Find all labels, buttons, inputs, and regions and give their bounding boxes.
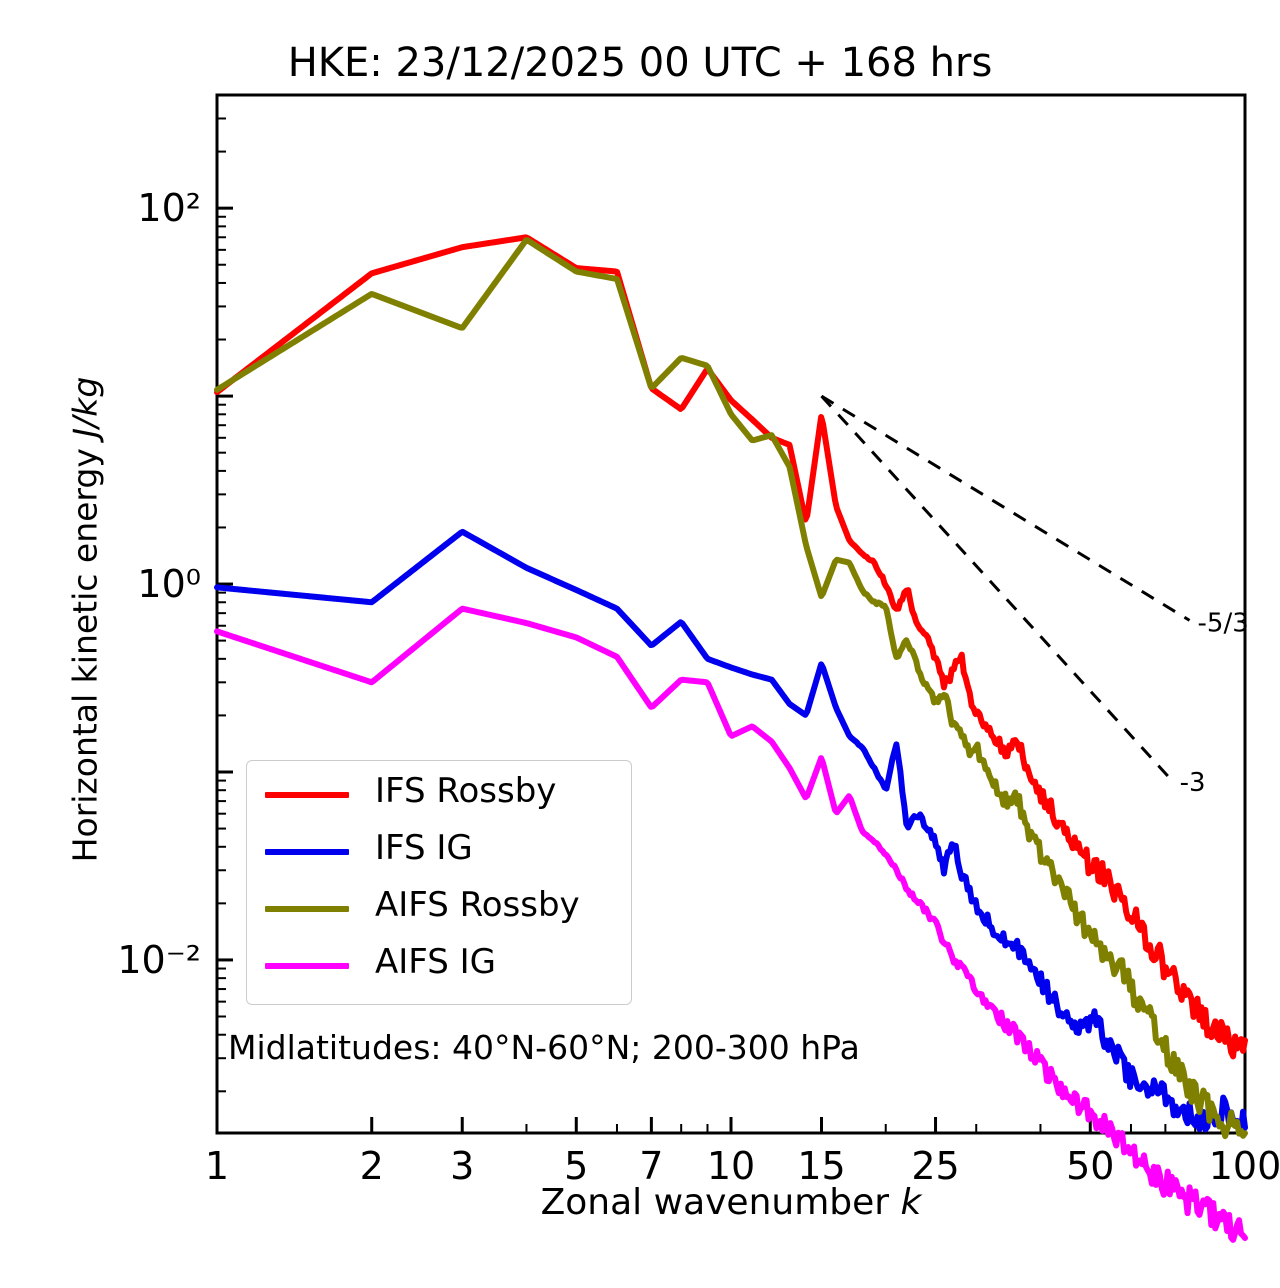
legend-item-aifs-ig[interactable]: AIFS IG	[247, 938, 631, 994]
slope-reference-line	[822, 396, 1190, 620]
legend-item-aifs-rossby[interactable]: AIFS Rossby	[247, 881, 631, 937]
legend-item-label: IFS Rossby	[375, 771, 556, 811]
legend-color-swatch	[265, 849, 349, 855]
legend-color-swatch	[265, 906, 349, 912]
legend-item-label: IFS IG	[375, 828, 473, 868]
legend-item-ifs-rossby[interactable]: IFS Rossby	[247, 767, 631, 823]
legend-color-swatch	[265, 963, 349, 969]
legend-item-label: AIFS IG	[375, 942, 496, 982]
slope-label: -3	[1180, 768, 1206, 798]
region-annotation: Midlatitudes: 40°N-60°N; 200-300 hPa	[228, 1028, 860, 1067]
slope-label: -5/3	[1198, 608, 1249, 638]
legend-item-ifs-ig[interactable]: IFS IG	[247, 824, 631, 880]
y-tick-label: 10⁰	[137, 562, 201, 606]
legend-item-label: AIFS Rossby	[375, 885, 580, 925]
legend: IFS RossbyIFS IGAIFS RossbyAIFS IG	[246, 760, 632, 1005]
x-axis-label-text: Zonal wavenumber	[541, 1182, 901, 1223]
y-tick-label: 10⁻²	[117, 938, 201, 982]
chart-plot-area: 123571015255010010²10⁰10⁻²-5/3-3	[0, 0, 1280, 1288]
y-tick-label: 10²	[137, 186, 201, 230]
x-axis-label-symbol: k	[901, 1182, 922, 1223]
slope-reference-line	[822, 396, 1172, 780]
x-axis-label: Zonal wavenumber k	[217, 1182, 1245, 1223]
legend-color-swatch	[265, 792, 349, 798]
chart-canvas: HKE: 23/12/2025 00 UTC + 168 hrs Horizon…	[0, 0, 1280, 1288]
